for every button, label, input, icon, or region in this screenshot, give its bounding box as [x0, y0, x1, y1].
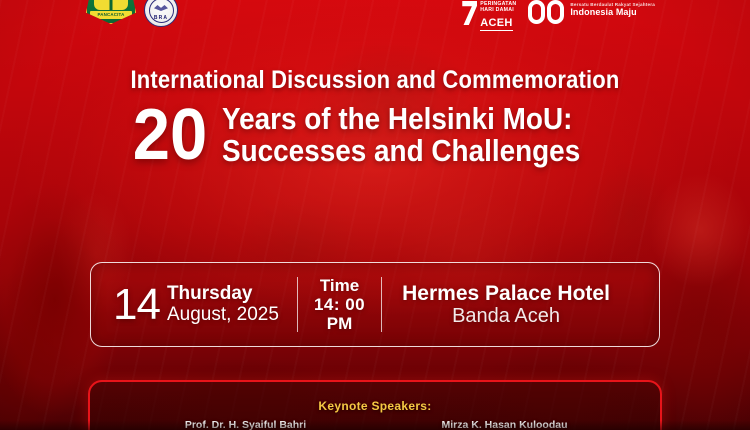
- date-day-number: 14: [113, 284, 160, 326]
- logo-group-right: PERINGATAN HARI DAMAI ACEH Bersatu Berda…: [461, 0, 655, 31]
- pancacita-ribbon-label: PANCACITA: [90, 11, 132, 19]
- open-book-icon: [94, 0, 128, 10]
- digit-zero-icon: [547, 0, 564, 24]
- seven-ribbon-icon: [461, 1, 477, 25]
- indonesia-maju-text: Bersatu Berdaulat Rakyat Sejahtera Indon…: [570, 2, 655, 17]
- hari-damai-aceh-text: PERINGATAN HARI DAMAI ACEH: [480, 2, 516, 31]
- logo-bar: PANCACITA BRA PERINGATAN HARI DAMAI ACEH: [0, 0, 750, 34]
- event-info-bar: 14 Thursday August, 2025 Time 14: 00 PM …: [90, 262, 660, 347]
- venue-cell: Hermes Palace Hotel Banda Aceh: [382, 263, 624, 346]
- indonesia-maju-logo: Bersatu Berdaulat Rakyat Sejahtera Indon…: [528, 0, 655, 24]
- bra-seal-icon: BRA: [144, 0, 178, 27]
- speaker-name: Prof. Dr. H. Syaiful Bahri: [116, 419, 375, 430]
- venue-name: Hermes Palace Hotel: [402, 282, 610, 305]
- venue-city: Banda Aceh: [452, 305, 560, 328]
- keynote-speakers-row: Prof. Dr. H. Syaiful Bahri Mirza K. Hasa…: [90, 413, 660, 430]
- date-cell: 14 Thursday August, 2025: [91, 263, 297, 346]
- event-title-lines: Years of the Helsinki MoU: Successes and…: [222, 103, 620, 167]
- event-kicker: International Discussion and Commemorati…: [45, 66, 705, 95]
- date-text-group: Thursday August, 2025: [167, 284, 279, 325]
- time-meridiem: PM: [327, 314, 353, 333]
- event-title-row: 20 Years of the Helsinki MoU: Successes …: [0, 103, 750, 167]
- time-label: Time: [320, 277, 359, 295]
- background-glow: [0, 0, 750, 430]
- headline-block: International Discussion and Commemorati…: [0, 66, 750, 167]
- speaker-name: Mirza K. Hasan Kuloodau: [375, 419, 634, 430]
- event-poster: PANCACITA BRA PERINGATAN HARI DAMAI ACEH: [0, 0, 750, 430]
- logo-group-left: PANCACITA BRA: [86, 0, 178, 27]
- hari-damai-aceh-logo: PERINGATAN HARI DAMAI ACEH: [461, 1, 516, 31]
- event-title-line-2: Successes and Challenges: [222, 135, 580, 167]
- indonesia-maju-label: Indonesia Maju: [570, 7, 655, 17]
- bra-seal-label: BRA: [145, 15, 177, 21]
- date-weekday: Thursday: [167, 284, 279, 304]
- damai-line-3: ACEH: [480, 17, 512, 31]
- keynote-speakers-panel: Keynote Speakers: Prof. Dr. H. Syaiful B…: [88, 380, 662, 430]
- anniversary-number: 20: [133, 104, 207, 167]
- time-cell: Time 14: 00 PM: [298, 263, 381, 346]
- date-month-year: August, 2025: [167, 304, 279, 325]
- digit-eight-icon: [528, 0, 545, 24]
- event-title-line-1: Years of the Helsinki MoU:: [222, 103, 580, 135]
- pancacita-emblem-icon: PANCACITA: [86, 0, 136, 24]
- indonesia-maju-tagline: Bersatu Berdaulat Rakyat Sejahtera: [570, 2, 655, 7]
- eighty-number-icon: [528, 0, 564, 24]
- time-value: 14: 00: [314, 295, 365, 314]
- damai-line-2: HARI DAMAI: [480, 8, 516, 14]
- keynote-speakers-title: Keynote Speakers:: [90, 399, 660, 413]
